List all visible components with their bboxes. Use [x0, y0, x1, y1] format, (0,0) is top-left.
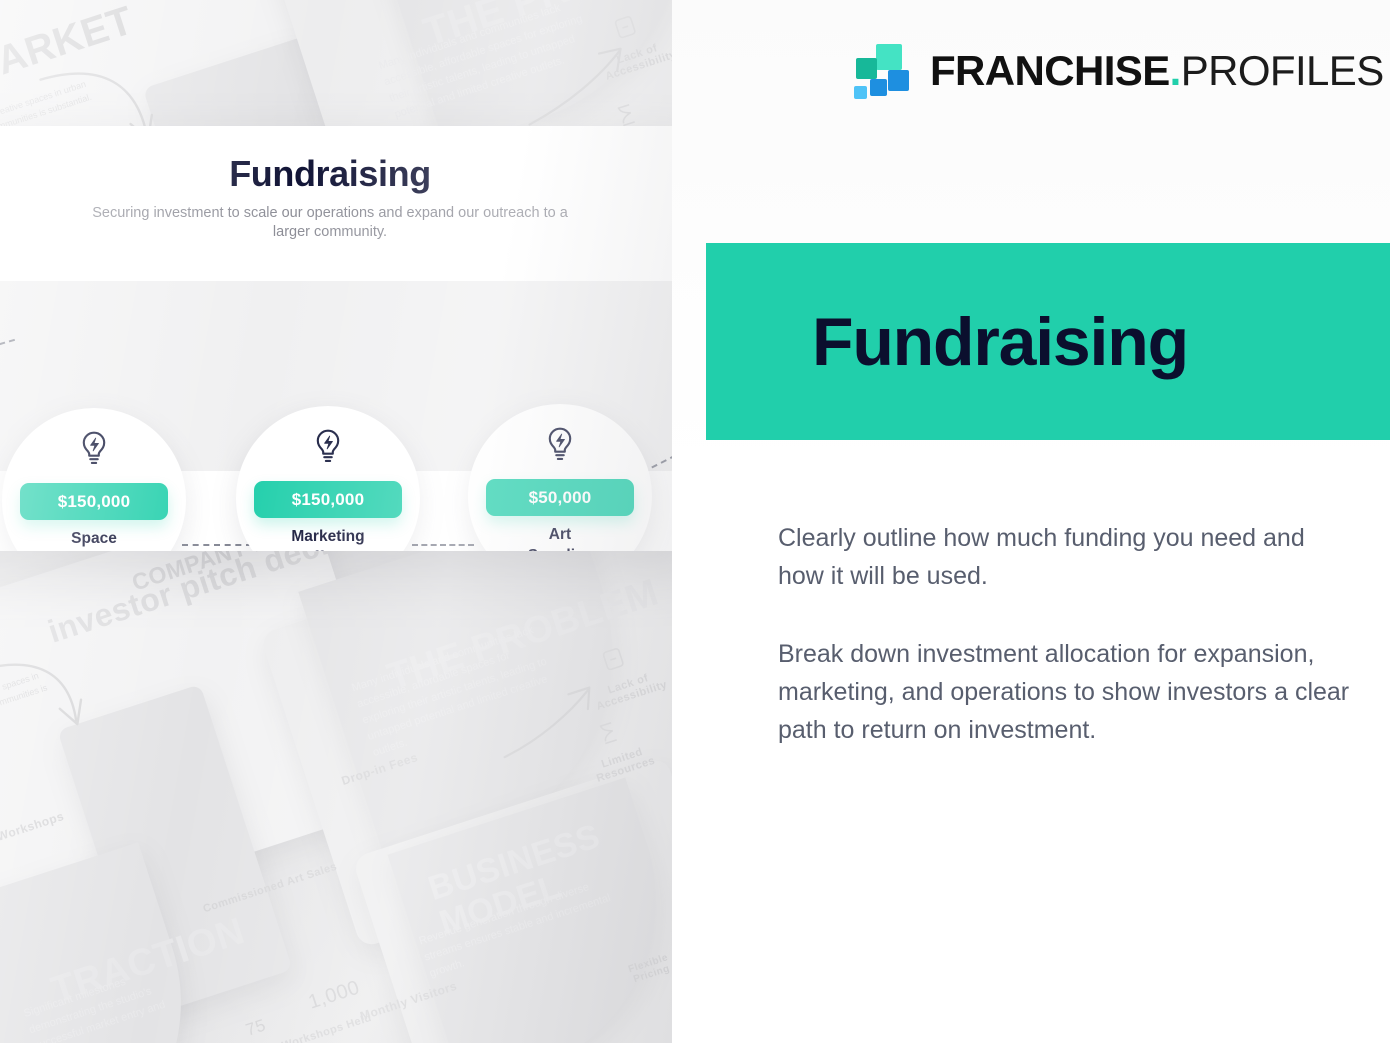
section-description: Clearly outline how much funding you nee… [778, 519, 1353, 749]
lightbulb-bolt-icon [311, 428, 345, 462]
deck-small-label: Workshops Held [280, 1012, 373, 1043]
brand-dot: . [1170, 47, 1181, 94]
section-title: Fundraising [812, 303, 1188, 381]
funding-item-label: Space Expansion [2, 529, 186, 551]
description-paragraph-2: Break down investment allocation for exp… [778, 635, 1353, 749]
funding-amount-badge: $150,000 [254, 481, 402, 518]
funding-items-row: $150,000 Space Expansion [0, 126, 672, 551]
slide-canvas: MARKET The demand for creative spaces in… [0, 0, 1390, 1043]
pitch-deck-mockup-panel: MARKET The demand for creative spaces in… [0, 0, 672, 1043]
brand-wordmark: FRANCHISE.PROFILES [930, 50, 1384, 92]
lightbulb-bolt-icon [77, 430, 111, 464]
funding-item-label-line1: Marketing [291, 528, 364, 545]
brand-logo[interactable]: FRANCHISE.PROFILES [854, 42, 1384, 100]
franchise-profiles-logo-mark [854, 42, 912, 100]
funding-item-space-expansion[interactable]: $150,000 Space Expansion [2, 408, 186, 551]
funding-amount-badge: $150,000 [20, 483, 168, 520]
card-content: Fundraising Securing investment to scale… [0, 126, 672, 551]
funding-item-label: Marketing Efforts [236, 527, 420, 551]
lightbulb-bolt-icon [543, 426, 577, 460]
funding-item-label-line2: Efforts [303, 549, 353, 551]
brand-name-bold: FRANCHISE [930, 47, 1170, 94]
connector-dash-2-3 [412, 544, 474, 546]
fundraising-slide-card: Fundraising Securing investment to scale… [0, 126, 672, 551]
funding-item-label-line2: Supplies [528, 547, 593, 551]
description-paragraph-1: Clearly outline how much funding you nee… [778, 519, 1353, 595]
deck-stat-value: 75 [243, 1015, 268, 1040]
funding-item-marketing-efforts[interactable]: $150,000 Marketing Efforts [236, 406, 420, 551]
connector-dash-left [0, 339, 15, 415]
section-banner: Fundraising [706, 243, 1390, 440]
funding-item-label-line1: Space [71, 530, 117, 547]
brand-name-light: PROFILES [1181, 47, 1384, 94]
funding-item-label: Art Supplies [468, 525, 652, 551]
funding-amount-badge: $50,000 [486, 479, 634, 516]
funding-item-art-supplies[interactable]: $50,000 Art Supplies [468, 404, 652, 551]
funding-item-label-line1: Art [549, 526, 571, 543]
deck-stat-value: 1,000 [306, 976, 363, 1014]
